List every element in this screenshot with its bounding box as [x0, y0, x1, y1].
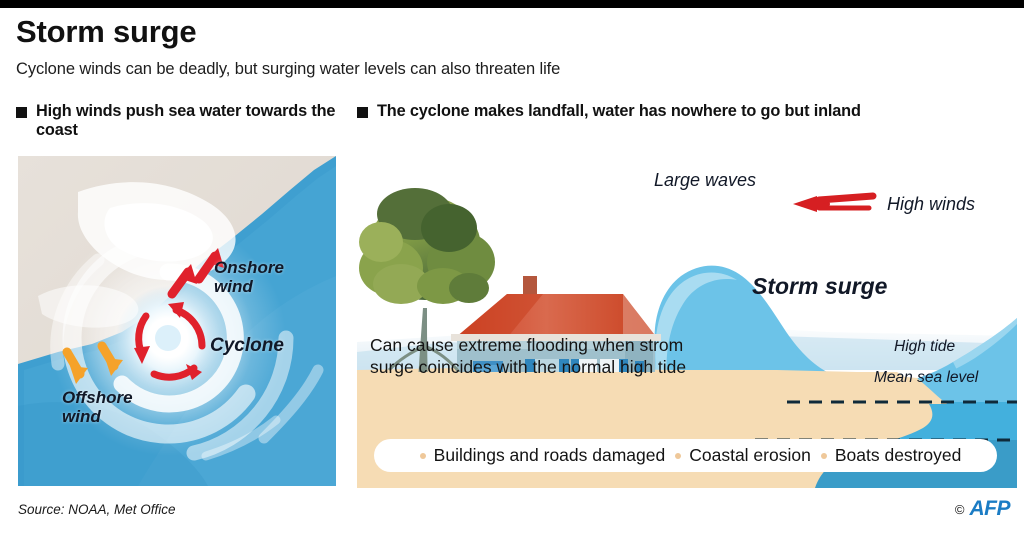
satellite-cyclone-image: Onshorewind Cyclone Offshorewind — [18, 156, 336, 486]
label-offshore-wind: Offshorewind — [62, 388, 133, 426]
impacts-pill: Buildings and roads damaged Coastal eros… — [374, 439, 997, 472]
label-onshore-wind: Onshorewind — [214, 258, 284, 296]
bullet-square-icon — [357, 107, 368, 118]
section-heading-right-label: The cyclone makes landfall, water has no… — [377, 102, 861, 121]
afp-logo: © AFP — [955, 497, 1010, 521]
label-high-tide: High tide — [894, 338, 955, 356]
page-subtitle: Cyclone winds can be deadly, but surging… — [16, 60, 560, 79]
label-high-winds: High winds — [887, 194, 975, 215]
page-title: Storm surge — [16, 16, 196, 49]
copyright-icon: © — [955, 502, 965, 517]
section-heading-left-label: High winds push sea water towards the co… — [36, 102, 346, 140]
label-mean-sea-level: Mean sea level — [874, 369, 978, 387]
source-credit: Source: NOAA, Met Office — [18, 502, 176, 517]
label-cyclone: Cyclone — [210, 335, 284, 356]
section-heading-left: High winds push sea water towards the co… — [16, 102, 346, 140]
bullet-dot-icon — [675, 453, 681, 459]
cyclone-illustration — [18, 156, 336, 486]
impact-item-2: Coastal erosion — [689, 445, 811, 466]
flooding-description: Can cause extreme flooding when strom su… — [370, 334, 730, 379]
afp-wordmark: AFP — [970, 497, 1011, 521]
infographic-page: Storm surge Cyclone winds can be deadly,… — [0, 0, 1024, 534]
impact-item-3: Boats destroyed — [835, 445, 961, 466]
section-heading-right: The cyclone makes landfall, water has no… — [357, 102, 1017, 121]
storm-surge-diagram: Large waves High winds Storm surge High … — [357, 156, 1017, 488]
bullet-square-icon — [16, 107, 27, 118]
bullet-dot-icon — [821, 453, 827, 459]
label-storm-surge: Storm surge — [752, 273, 887, 300]
impact-item-1: Buildings and roads damaged — [434, 445, 666, 466]
label-large-waves: Large waves — [654, 170, 756, 191]
bullet-dot-icon — [420, 453, 426, 459]
top-rule — [0, 0, 1024, 8]
